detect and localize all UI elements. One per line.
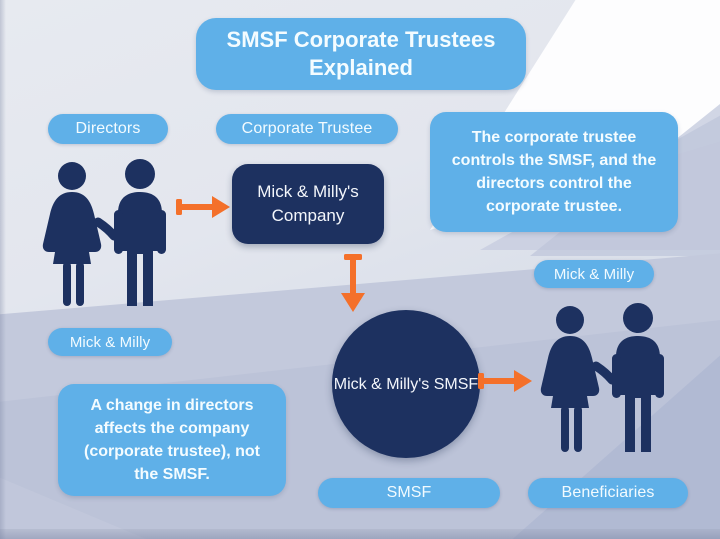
label-smsf: SMSF xyxy=(318,478,500,508)
background-frame-bottom xyxy=(0,529,720,539)
arrow-company-to-smsf xyxy=(336,252,370,314)
beneficiaries-people-icon xyxy=(532,302,684,458)
node-company: Mick & Milly's Company xyxy=(232,164,384,244)
background-frame-left xyxy=(0,0,6,539)
label-beneficiaries: Beneficiaries xyxy=(528,478,688,508)
node-smsf-fund: Mick & Milly's SMSF xyxy=(332,310,480,458)
arrow-directors-to-company xyxy=(174,190,232,224)
note-director-change-effect: A change in directors affects the compan… xyxy=(58,384,286,496)
arrow-smsf-to-beneficiaries xyxy=(476,364,534,398)
page-title: SMSF Corporate Trustees Explained xyxy=(196,18,526,90)
directors-people-icon xyxy=(36,158,184,310)
label-corporate-trustee: Corporate Trustee xyxy=(216,114,398,144)
label-directors: Directors xyxy=(48,114,168,144)
label-mick-milly-beneficiaries: Mick & Milly xyxy=(534,260,654,288)
note-corporate-trustee-control: The corporate trustee controls the SMSF,… xyxy=(430,112,678,232)
infographic-canvas: SMSF Corporate Trustees Explained Direct… xyxy=(0,0,720,539)
label-mick-milly-directors: Mick & Milly xyxy=(48,328,172,356)
